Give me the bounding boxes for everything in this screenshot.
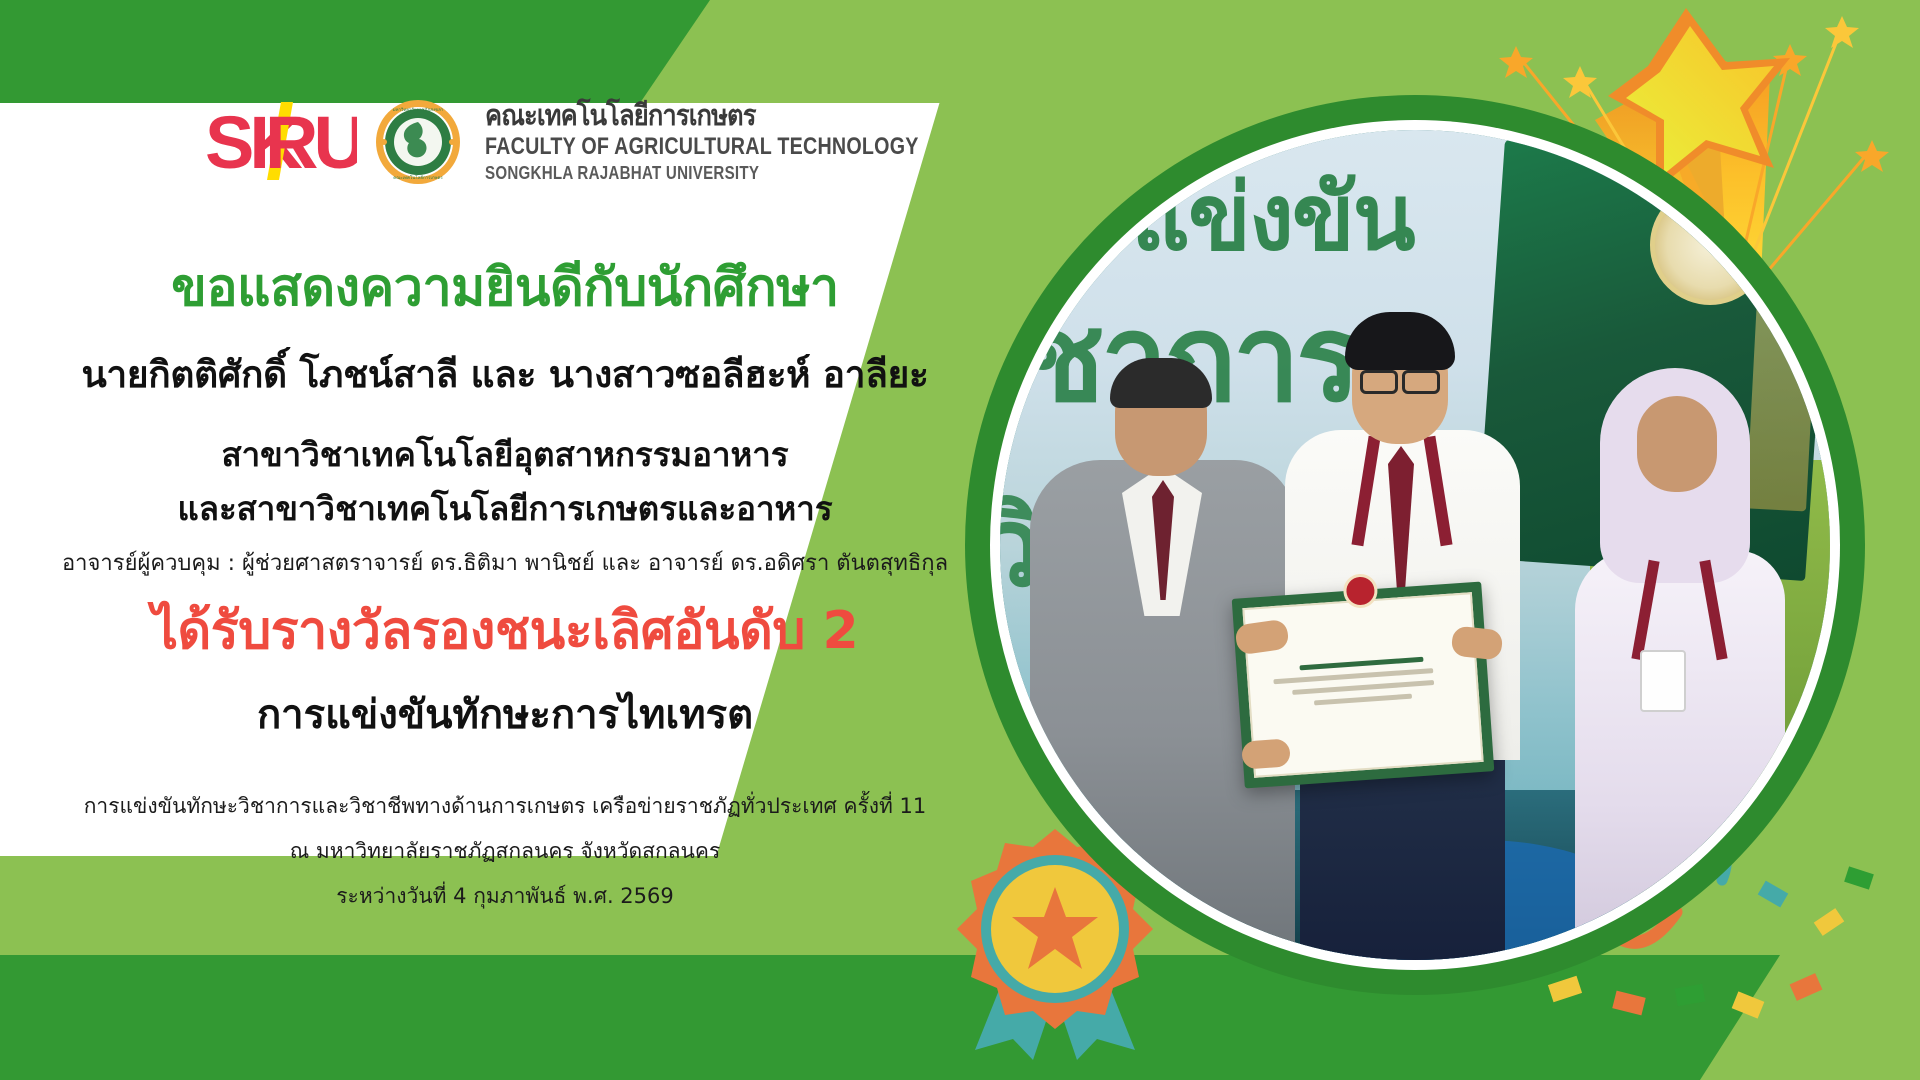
footer-line-3: ระหว่างวันที่ 4 กุมภาพันธ์ พ.ศ. 2569 [0,880,1010,913]
faculty-name-thai: คณะเทคโนโลยีการเกษตร [485,100,950,130]
congratulation-heading: ขอแสดงความยินดีกับนักศึกษา [0,245,1010,328]
header-logo-row: SK RU มหาวิทยาลัยราชภัฏสงขลา คณะเทคโนโลย… [205,96,1014,188]
student-names: นายกิตติศักดิ์ โภชน์สาลี และ นางสาวซอลีฮ… [0,345,1010,404]
award-headline: ได้รับรางวัลรองชนะเลิศอันดับ 2 [0,588,1010,671]
photo-certificate-lines [1272,648,1453,715]
photo-person-centre-glasses-icon [1360,370,1440,388]
major-line-1: สาขาวิชาเทคโนโลยีอุตสาหกรรมอาหาร [0,428,1010,481]
svg-text:มหาวิทยาลัยราชภัฏสงขลา: มหาวิทยาลัยราชภัฏสงขลา [393,107,444,112]
faculty-name-english: FACULTY OF AGRICULTURAL TECHNOLOGY [485,133,919,161]
university-name-english: SONGKHLA RAJABHAT UNIVERSITY [485,163,929,184]
photo-person-right-id-badge [1640,650,1686,712]
photo-hand-lower [1241,738,1291,769]
contest-name: การแข่งขันทักษะการไทเทรต [0,682,1010,746]
skru-logo: SK RU [205,96,357,188]
photo-hand-centre [1451,625,1504,660]
photo-person-right-body [1575,550,1785,960]
svg-text:RU: RU [265,101,357,184]
award-photo: การแข่งขัน วิชาการ วิชาชีพ สร้างสรรค์ นว… [1000,130,1830,960]
faculty-name-block: คณะเทคโนโลยีการเกษตร FACULTY OF AGRICULT… [485,100,1014,184]
advisor-line: อาจารย์ผู้ควบคุม : ผู้ช่วยศาสตราจารย์ ดร… [0,545,1010,580]
photo-flag-text-strip [1746,279,1818,512]
university-seal-icon: มหาวิทยาลัยราชภัฏสงขลา คณะเทคโนโลยีการเก… [375,99,461,185]
poster-canvas: การแข่งขัน วิชาการ วิชาชีพ สร้างสรรค์ นว… [0,0,1920,1080]
photo-flag-seal [1650,185,1770,305]
footer-line-2: ณ มหาวิทยาลัยราชภัฏสกลนคร จังหวัดสกลนคร [0,835,1010,868]
svg-text:คณะเทคโนโลยีการเกษตร: คณะเทคโนโลยีการเกษตร [393,174,443,180]
photo-person-right-face [1637,396,1717,492]
footer-line-1: การแข่งขันทักษะวิชาการและวิชาชีพทางด้านก… [0,790,1010,823]
major-line-2: และสาขาวิชาเทคโนโลยีการเกษตรและอาหาร [0,482,1010,535]
